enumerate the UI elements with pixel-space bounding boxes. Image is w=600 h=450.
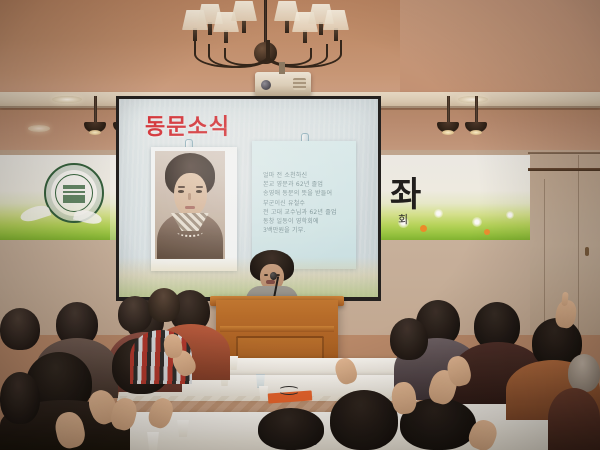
portrait-mouth [185,206,195,209]
seal-wing-right [73,208,103,226]
spotlight-glow [470,130,482,135]
slide-line: 얼마 전 소천하신 [263,171,351,180]
audience-head [118,296,152,332]
podium-ledge [220,326,334,332]
projector-vent [293,78,306,90]
seal-gate-motif [63,185,85,203]
slide-line: 동창 일동이 영학회에 [263,217,351,226]
track-spotlight [437,96,459,138]
projector-mount [279,62,285,74]
audience-head [148,288,180,322]
portrait-nose [188,193,191,200]
chandelier-candle [242,20,246,33]
chandelier-arm [194,40,270,68]
audience-shoulders [548,388,600,450]
ceiling-right-section [400,0,600,100]
audience-head [0,372,40,424]
chandelier-candle [285,20,289,33]
chandelier-shade [323,10,349,30]
spotlight-glow [89,130,101,135]
slide-title: 동문소식 [145,109,230,141]
slide-line: 부군이신 유철수 [263,199,351,208]
banner-subtext: 회 [398,211,408,227]
spotlight-rod [94,96,97,124]
microphone-icon [270,272,277,280]
slide-line: 본교 영문과 62년 졸업 [263,180,351,189]
chandelier-stem [264,0,267,44]
panel-seam [544,179,545,335]
portrait-brow-left [178,186,185,188]
speaker-eye-left [264,274,268,276]
seal-wing-left [19,203,52,225]
audience-head [390,318,428,360]
panel-seam [578,155,579,335]
audience-head [568,354,600,392]
chandelier-arm [266,40,342,68]
speaker-mouth [266,280,275,284]
portrait-photo [155,151,225,259]
slide-body-text: 얼마 전 소천하신 본교 영문과 62년 졸업 송영애 동문의 뜻을 받들어 부… [263,171,351,235]
eyeglasses-icon[interactable] [278,386,300,395]
slide-line: 3백만원을 기부. [263,226,351,235]
flower [506,211,514,219]
slide-line: 송영애 동문의 뜻을 받들어 [263,189,351,198]
wall-rail [528,152,600,154]
slide-line: 전 고대 교수님과 62년 졸업 [263,208,351,217]
track-spotlight [84,96,106,138]
portrait-eye-right [196,190,202,193]
spotlight-glow [442,130,454,135]
track-spotlight [465,96,487,138]
banner-text: 좌 [390,167,423,216]
portrait-eye-left [178,190,184,193]
recessed-downlight [52,96,82,103]
portrait-necklace [177,227,203,237]
audience-head [330,390,398,450]
wall-rail [528,168,600,171]
photograph-scene: 좌 회 동문소식 [0,0,600,450]
chandelier-shade [231,1,257,21]
audience-head [258,408,324,450]
slide-photo-card [151,147,237,271]
flower [434,209,443,218]
portrait-brow-right [196,186,203,188]
flower-orange [484,229,490,235]
audience-head [0,308,40,350]
recessed-downlight [28,125,50,132]
spotlight-rod [475,96,478,124]
spotlight-rod [447,96,450,124]
ceiling-projector [255,72,311,96]
projector-lens-icon [261,80,271,90]
flower-orange [420,225,427,232]
flower [472,217,482,227]
door-knob[interactable] [585,247,589,256]
